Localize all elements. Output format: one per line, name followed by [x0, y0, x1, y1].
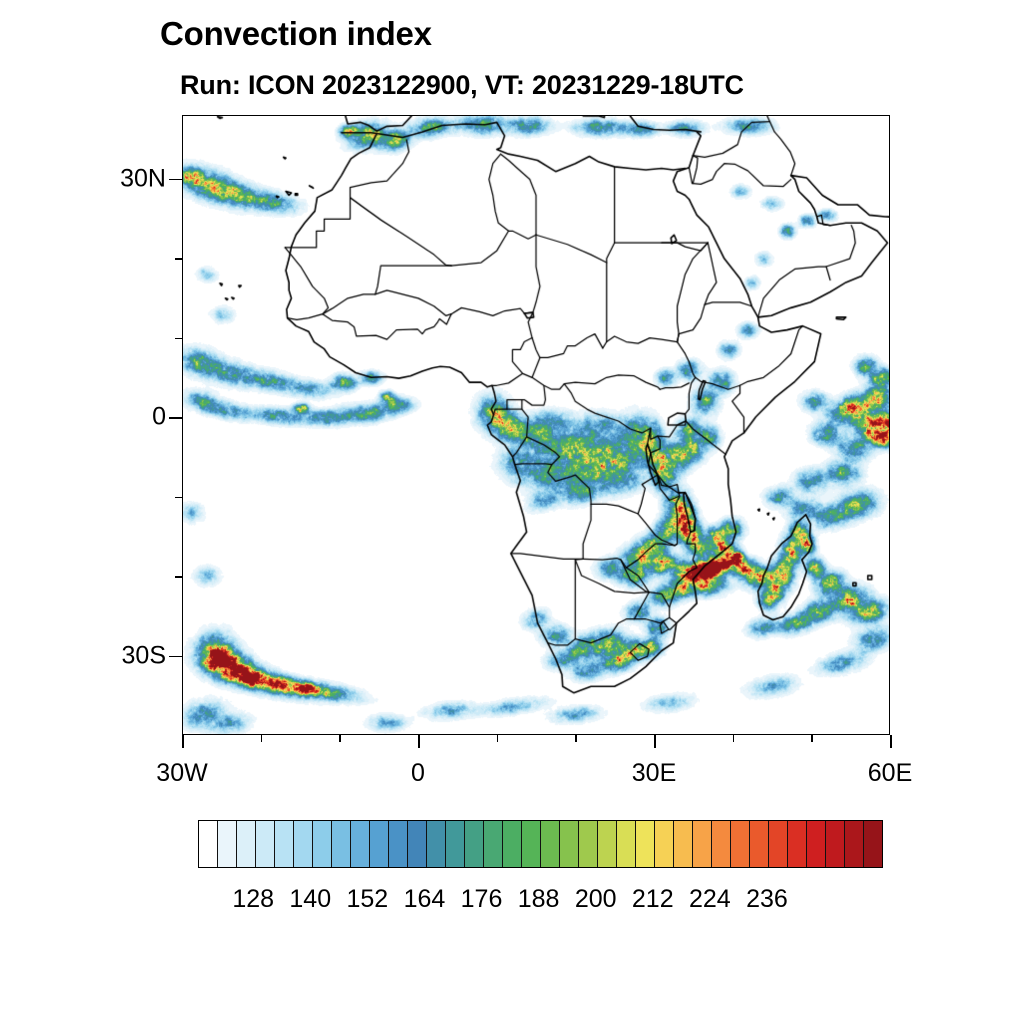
colorbar-tick-label: 152 — [346, 885, 388, 914]
colorbar — [198, 820, 883, 868]
colorbar-cell — [446, 821, 465, 867]
y-tick — [169, 179, 182, 181]
colorbar-cell — [351, 821, 370, 867]
colorbar-cell — [389, 821, 408, 867]
colorbar-tick-label: 212 — [632, 885, 674, 914]
x-tick — [811, 735, 813, 742]
x-tick — [182, 735, 184, 748]
y-tick — [175, 497, 182, 499]
colorbar-cell — [522, 821, 541, 867]
x-tick — [575, 735, 577, 742]
colorbar-cell — [408, 821, 427, 867]
map-plot-area — [182, 115, 890, 735]
colorbar-cell — [579, 821, 598, 867]
colorbar-cell — [294, 821, 313, 867]
colorbar-cell — [199, 821, 218, 867]
colorbar-cell — [541, 821, 560, 867]
colorbar-tick-label: 128 — [232, 885, 274, 914]
colorbar-cell — [370, 821, 389, 867]
x-axis-label: 0 — [411, 759, 425, 788]
colorbar-tick-label: 164 — [404, 885, 446, 914]
page-title: Convection index — [160, 17, 432, 50]
colorbar-tick-label: 140 — [289, 885, 331, 914]
x-tick — [497, 735, 499, 742]
colorbar-cell — [807, 821, 826, 867]
colorbar-cell — [256, 821, 275, 867]
x-axis-label: 30E — [632, 759, 676, 788]
colorbar-cell — [237, 821, 256, 867]
colorbar-cell — [503, 821, 522, 867]
x-axis-label: 30W — [156, 759, 207, 788]
x-tick — [654, 735, 656, 748]
y-axis-label: 30N — [86, 164, 166, 193]
y-tick — [175, 338, 182, 340]
x-tick — [733, 735, 735, 742]
colorbar-cell — [427, 821, 446, 867]
x-tick — [418, 735, 420, 748]
colorbar-cell — [845, 821, 864, 867]
colorbar-cell — [731, 821, 750, 867]
colorbar-cell — [674, 821, 693, 867]
colorbar-cell — [788, 821, 807, 867]
figure-root: Convection index Run: ICON 2023122900, V… — [0, 0, 1024, 1024]
colorbar-cell — [275, 821, 294, 867]
coastline-borders-overlay — [183, 116, 889, 734]
colorbar-tick-label: 236 — [746, 885, 788, 914]
colorbar-tick-label: 188 — [518, 885, 560, 914]
y-tick — [175, 258, 182, 260]
x-axis-label: 60E — [868, 759, 912, 788]
colorbar-cell — [712, 821, 731, 867]
colorbar-tick-label: 224 — [689, 885, 731, 914]
colorbar-cell — [864, 821, 882, 867]
colorbar-cell — [484, 821, 503, 867]
page-subtitle: Run: ICON 2023122900, VT: 20231229-18UTC — [180, 72, 744, 99]
colorbar-cell — [598, 821, 617, 867]
colorbar-cell — [313, 821, 332, 867]
colorbar-cell — [750, 821, 769, 867]
x-tick — [890, 735, 892, 748]
colorbar-cell — [218, 821, 237, 867]
colorbar-cell — [560, 821, 579, 867]
colorbar-tick-label: 200 — [575, 885, 617, 914]
colorbar-tick-label: 176 — [461, 885, 503, 914]
y-tick — [169, 656, 182, 658]
colorbar-cell — [693, 821, 712, 867]
colorbar-cell — [617, 821, 636, 867]
y-tick — [169, 417, 182, 419]
x-tick — [261, 735, 263, 742]
colorbar-cell — [332, 821, 351, 867]
colorbar-cell — [655, 821, 674, 867]
colorbar-cell — [826, 821, 845, 867]
colorbar-cell — [636, 821, 655, 867]
y-axis-label: 0 — [86, 403, 166, 432]
colorbar-cell — [465, 821, 484, 867]
y-tick — [175, 576, 182, 578]
y-axis-label: 30S — [86, 641, 166, 670]
colorbar-cell — [769, 821, 788, 867]
x-tick — [339, 735, 341, 742]
